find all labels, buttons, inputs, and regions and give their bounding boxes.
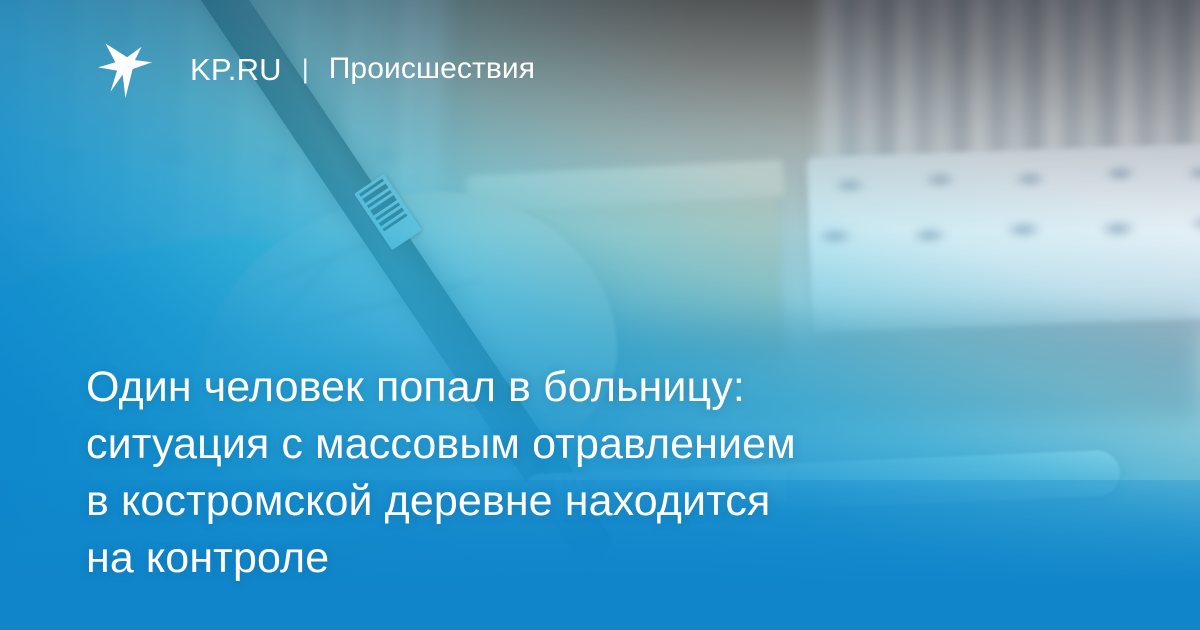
site-name[interactable]: KP.RU <box>190 54 282 85</box>
site-header: KP.RU | Происшествия <box>98 40 535 98</box>
headline-line-1: Один человек попал в больницу: <box>86 359 986 416</box>
social-share-card: 0,1 мл СР 2012/13095 от 27.02.2014 KP.RU… <box>0 0 1200 630</box>
headline-line-2: ситуация с массовым отравлением <box>86 416 986 473</box>
header-divider: | <box>302 56 309 83</box>
headline: Один человек попал в больницу: ситуация … <box>86 359 986 587</box>
headline-line-3: в костромской деревне находится <box>86 473 986 530</box>
headline-line-4: на контроле <box>86 530 986 587</box>
rubric-label[interactable]: Происшествия <box>329 54 535 84</box>
swallow-bird-logo-icon[interactable] <box>98 40 154 98</box>
